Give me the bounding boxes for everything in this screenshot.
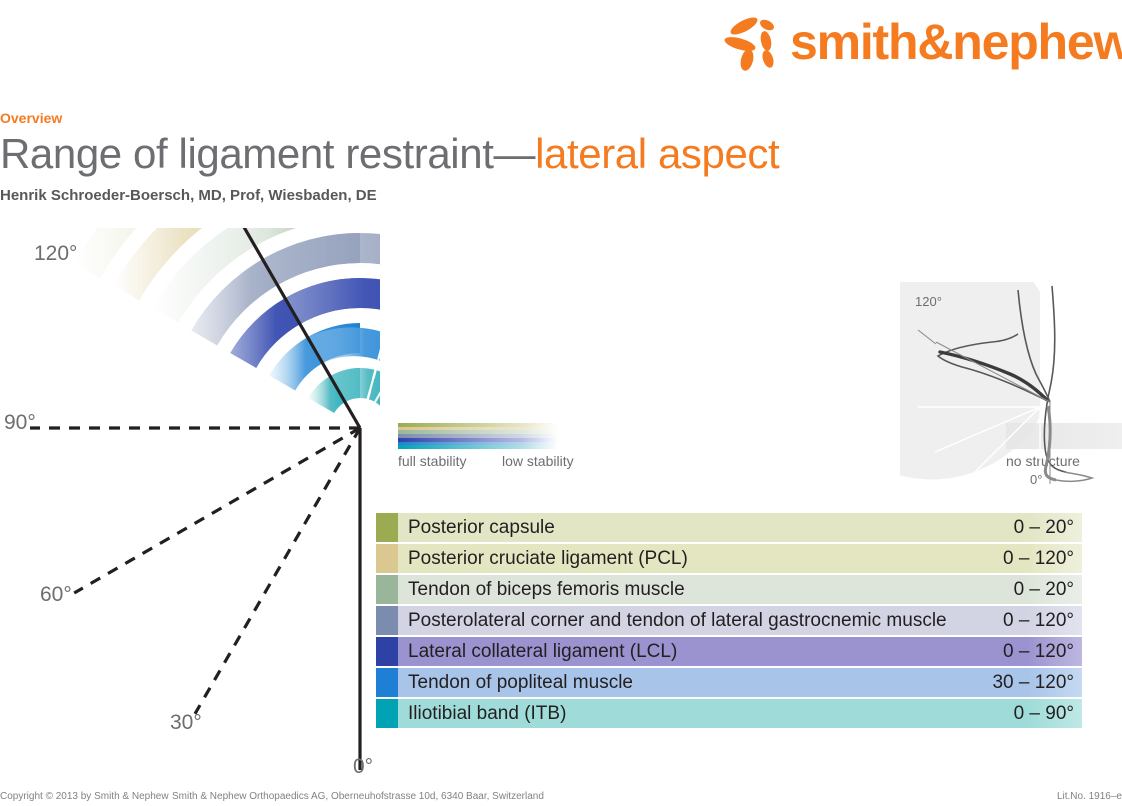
structure-name: Tendon of popliteal muscle xyxy=(408,668,633,697)
structure-name: Posterior cruciate ligament (PCL) xyxy=(408,544,688,573)
page-title-main: Range of ligament restraint— xyxy=(0,130,535,177)
structure-name: Lateral collateral ligament (LCL) xyxy=(408,637,677,666)
structure-range: 0 – 20° xyxy=(1014,575,1074,604)
page-title-accent: lateral aspect xyxy=(535,130,779,177)
knee-label-120: 120° xyxy=(915,294,942,309)
smith-nephew-pinwheel-logo xyxy=(722,14,784,72)
brand-wordmark: smith&nephew xyxy=(790,14,1122,70)
row-color-swatch xyxy=(376,606,398,635)
row-body: Posterolateral corner and tendon of late… xyxy=(398,606,1082,635)
table-row[interactable]: Iliotibial band (ITB) 0 – 90° xyxy=(376,699,1082,728)
knee-calf-outline xyxy=(1045,406,1056,480)
row-color-swatch xyxy=(376,544,398,573)
knee-foot-outline xyxy=(1056,472,1092,481)
row-color-swatch xyxy=(376,513,398,542)
row-body: Iliotibial band (ITB) 0 – 90° xyxy=(398,699,1082,728)
legend-stripe-itb xyxy=(398,445,558,449)
footer-address: Smith & Nephew Orthopaedics AG, Oberneuh… xyxy=(172,791,544,802)
fan-bands-annuli xyxy=(30,228,380,770)
row-body: Posterior capsule 0 – 20° xyxy=(398,513,1082,542)
structure-range: 0 – 120° xyxy=(1003,606,1074,635)
table-row[interactable]: Posterior capsule 0 – 20° xyxy=(376,513,1082,542)
knee-flexion-illustration xyxy=(900,282,1100,492)
knee-range-fan xyxy=(900,282,1040,480)
ligament-range-table: Posterior capsule 0 – 20° Posterior cruc… xyxy=(376,513,1082,730)
footer-litno: Lit.No. 1916–e xyxy=(1057,791,1122,802)
fan-label-120: 120° xyxy=(34,242,77,266)
overview-eyebrow: Overview xyxy=(0,110,62,126)
legend-label-full-stability: full stability xyxy=(398,453,466,469)
row-body: Tendon of popliteal muscle 30 – 120° xyxy=(398,668,1082,697)
table-row[interactable]: Tendon of biceps femoris muscle 0 – 20° xyxy=(376,575,1082,604)
row-body: Lateral collateral ligament (LCL) 0 – 12… xyxy=(398,637,1082,666)
axis-line-60 xyxy=(74,428,360,593)
stability-gradient-bar xyxy=(398,423,558,449)
row-color-swatch xyxy=(376,575,398,604)
table-row[interactable]: Posterolateral corner and tendon of late… xyxy=(376,606,1082,635)
axis-dashed-rays xyxy=(30,428,360,714)
structure-name: Tendon of biceps femoris muscle xyxy=(408,575,685,604)
legend-label-low-stability: low stability xyxy=(502,453,574,469)
table-row[interactable]: Lateral collateral ligament (LCL) 0 – 12… xyxy=(376,637,1082,666)
footer-copyright: Copyright © 2013 by Smith & Nephew xyxy=(0,791,169,802)
fan-label-90: 90° xyxy=(4,411,36,435)
table-row[interactable]: Tendon of popliteal muscle 30 – 120° xyxy=(376,668,1082,697)
ligament-restraint-fan-chart xyxy=(0,228,380,788)
table-row[interactable]: Posterior cruciate ligament (PCL) 0 – 12… xyxy=(376,544,1082,573)
row-color-swatch xyxy=(376,637,398,666)
structure-name: Posterolateral corner and tendon of late… xyxy=(408,606,947,635)
row-color-swatch xyxy=(376,699,398,728)
structure-range: 30 – 120° xyxy=(992,668,1074,697)
fan-label-30: 30° xyxy=(170,711,202,735)
structure-range: 0 – 20° xyxy=(1014,513,1074,542)
axis-line-30 xyxy=(195,428,360,714)
fan-label-60: 60° xyxy=(40,583,72,607)
row-body: Tendon of biceps femoris muscle 0 – 20° xyxy=(398,575,1082,604)
structure-range: 0 – 90° xyxy=(1014,699,1074,728)
author-byline: Henrik Schroeder-Boersch, MD, Prof, Wies… xyxy=(0,187,377,204)
row-body: Posterior cruciate ligament (PCL) 0 – 12… xyxy=(398,544,1082,573)
brand-logo: smith&nephew xyxy=(722,12,1122,74)
poster-page: smith&nephew Overview Range of ligament … xyxy=(0,0,1122,806)
page-title: Range of ligament restraint—lateral aspe… xyxy=(0,129,779,179)
fan-label-0: 0° xyxy=(353,755,373,779)
structure-name: Iliotibial band (ITB) xyxy=(408,699,566,728)
structure-range: 0 – 120° xyxy=(1003,544,1074,573)
structure-name: Posterior capsule xyxy=(408,513,555,542)
structure-range: 0 – 120° xyxy=(1003,637,1074,666)
row-color-swatch xyxy=(376,668,398,697)
knee-thigh-outline xyxy=(1044,286,1066,472)
knee-label-0: 0° xyxy=(1030,472,1042,487)
